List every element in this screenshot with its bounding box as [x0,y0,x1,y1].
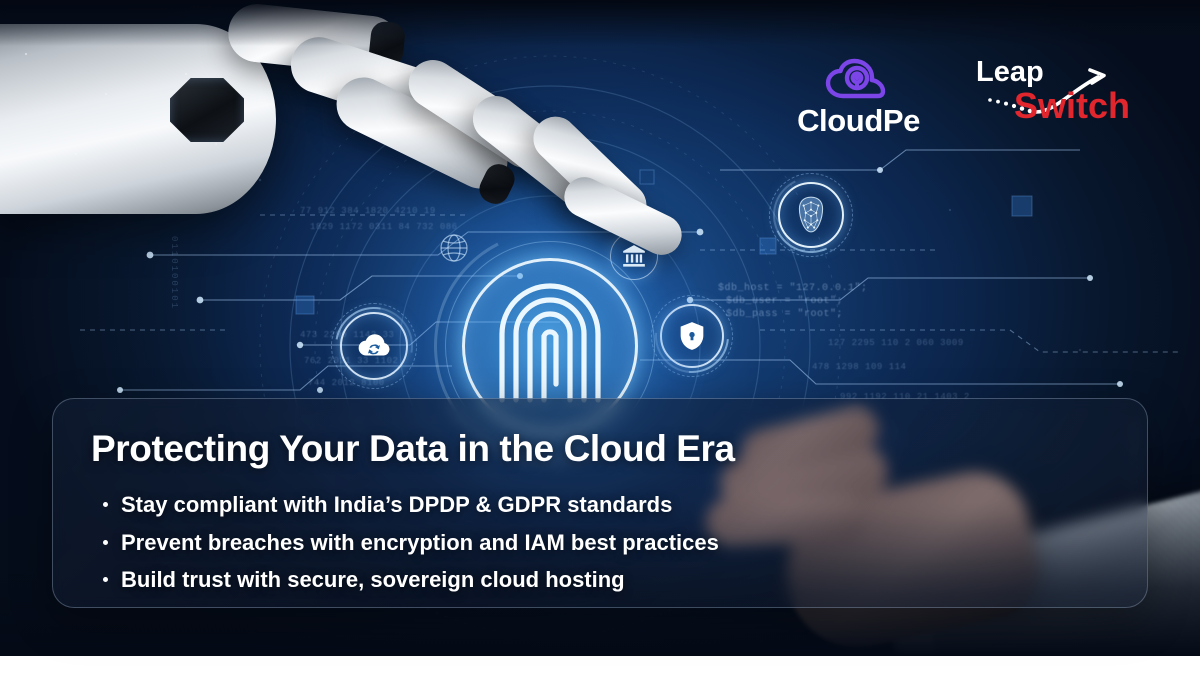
bullet-dot-icon [103,502,108,507]
list-item: Stay compliant with India’s DPDP & GDPR … [91,486,1107,524]
top-vignette [0,0,1200,46]
page-title: Protecting Your Data in the Cloud Era [91,429,1107,470]
background-code-line-3: $db_pass = "root"; [726,309,843,320]
globe-icon [434,228,474,268]
list-item-label: Prevent breaches with encryption and IAM… [121,524,719,562]
bullet-dot-icon [103,540,108,545]
benefit-list: Stay compliant with India’s DPDP & GDPR … [91,486,1107,599]
cloud-sync-icon [355,327,393,365]
face-id-node [778,182,844,248]
list-item-label: Build trust with secure, sovereign cloud… [121,561,625,599]
security-marketing-banner: $db_host = "127.0.0.1"; $db_user = "root… [0,0,1200,675]
leapswitch-logo[interactable]: Leap Switch [972,56,1152,136]
leapswitch-word-switch: Switch [1014,88,1130,124]
shield-lock-icon [675,319,709,353]
background-code-line-1: $db_host = "127.0.0.1"; [718,283,868,294]
bank-icon [621,243,647,269]
bottom-white-strip [0,656,1200,675]
cloud-pin-icon [824,56,894,102]
bullet-dot-icon [103,577,108,582]
globe-node [432,226,476,270]
cloudpe-logo[interactable]: CloudPe [797,56,920,136]
logo-row: CloudPe Leap Switch [797,56,1152,136]
background-number-6: 127 2295 110 2 060 3009 [828,338,964,348]
fingerprint-icon [498,280,602,412]
cloudpe-wordmark: CloudPe [797,105,920,136]
leapswitch-word-leap: Leap [976,58,1044,87]
content-card: Protecting Your Data in the Cloud Era St… [52,398,1148,608]
binary-column-left: 0110100101 [168,236,179,416]
list-item: Prevent breaches with encryption and IAM… [91,524,1107,562]
list-item: Build trust with secure, sovereign cloud… [91,561,1107,599]
background-code-line-2: $db_user = "root"; [726,296,843,307]
face-id-icon [793,195,829,235]
background-number-1: 77 912 384 1820 4210 19 [300,206,436,216]
list-item-label: Stay compliant with India’s DPDP & GDPR … [121,486,672,524]
